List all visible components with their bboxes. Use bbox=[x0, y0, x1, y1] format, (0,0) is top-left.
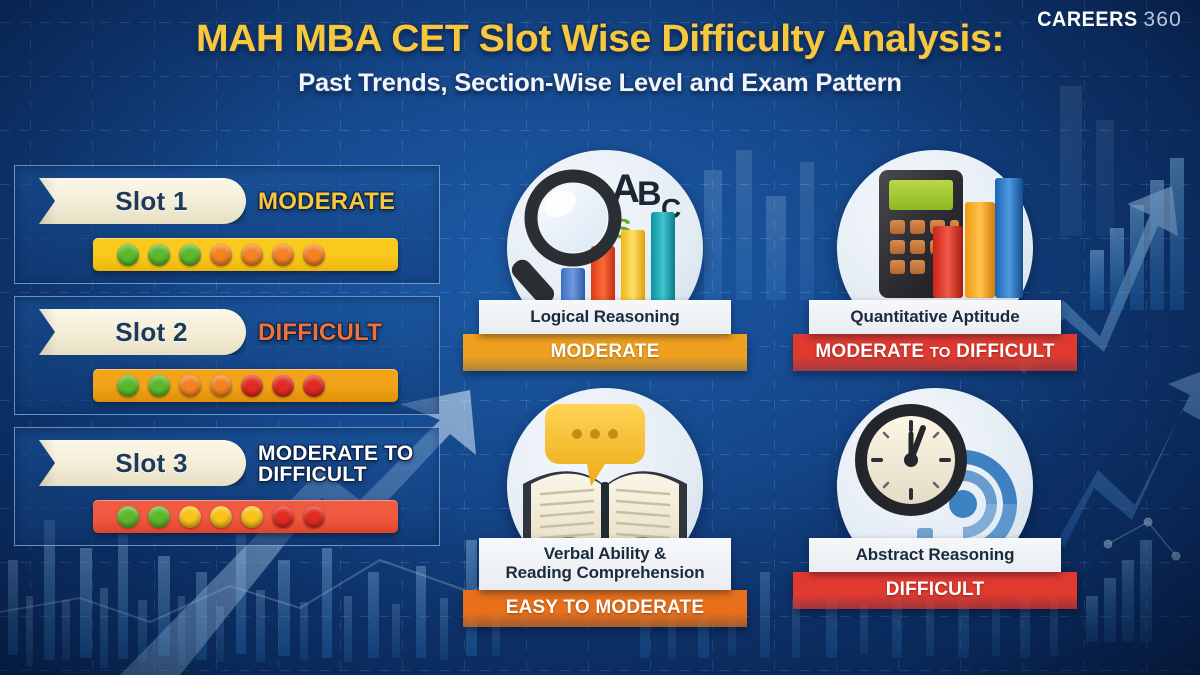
slot-name-label: Slot 3 bbox=[97, 448, 188, 479]
difficulty-meter-dot bbox=[272, 244, 294, 266]
section-name-line: Abstract Reasoning bbox=[815, 545, 1055, 564]
background-candlestick-bar bbox=[440, 598, 448, 660]
section-card[interactable]: A B C S Logical ReasoningMODERATE bbox=[455, 150, 755, 371]
difficulty-meter-dot bbox=[210, 244, 232, 266]
slot-panel: Slot 1MODERATE bbox=[14, 165, 440, 284]
section-name-line: Quantitative Aptitude bbox=[815, 307, 1055, 326]
difficulty-meter-dot bbox=[241, 375, 263, 397]
slot-ribbon: Slot 1 bbox=[39, 178, 246, 224]
section-card-grid: A B C S Logical ReasoningMODERATE bbox=[455, 150, 1190, 620]
section-difficulty-text: EASY TO MODERATE bbox=[506, 597, 705, 618]
background-candlestick-bar bbox=[158, 556, 170, 656]
background-candlestick-bar bbox=[300, 602, 308, 660]
background-candlestick-bar bbox=[80, 548, 92, 658]
background-candlestick-bar bbox=[100, 588, 108, 668]
difficulty-meter-dot bbox=[148, 375, 170, 397]
difficulty-meter-dot bbox=[303, 244, 325, 266]
section-difficulty-badge: MODERATE TO DIFFICULT bbox=[793, 334, 1077, 371]
slot-difficulty-line: MODERATE bbox=[258, 190, 395, 214]
difficulty-meter-dot bbox=[210, 375, 232, 397]
background-candlestick-bar bbox=[138, 600, 147, 662]
section-name-line: Logical Reasoning bbox=[485, 307, 725, 326]
difficulty-meter-dot bbox=[241, 244, 263, 266]
background-candlestick-bar bbox=[8, 560, 18, 655]
difficulty-meter-dot bbox=[272, 506, 294, 528]
background-candlestick-bar bbox=[368, 572, 379, 658]
difficulty-meter-dot bbox=[303, 375, 325, 397]
section-name-label: Verbal Ability &Reading Comprehension bbox=[479, 538, 731, 590]
background-candlestick-bar bbox=[344, 596, 352, 662]
slot-panel: Slot 2DIFFICULT bbox=[14, 296, 440, 415]
background-candlestick-bar bbox=[26, 596, 33, 666]
section-name-label: Logical Reasoning bbox=[479, 300, 731, 334]
grid-line-horizontal bbox=[0, 130, 1200, 131]
header: MAH MBA CET Slot Wise Difficulty Analysi… bbox=[0, 18, 1200, 98]
page-subtitle: Past Trends, Section-Wise Level and Exam… bbox=[0, 69, 1200, 98]
difficulty-meter-dot bbox=[272, 375, 294, 397]
background-candlestick-bar bbox=[216, 606, 224, 662]
slot-name-label: Slot 1 bbox=[97, 186, 188, 217]
slot-panel-list: Slot 1MODERATESlot 2DIFFICULTSlot 3MODER… bbox=[14, 165, 440, 558]
slot-difficulty-meter bbox=[93, 500, 398, 533]
section-difficulty-text: TO bbox=[930, 344, 951, 361]
section-name-line: Verbal Ability & bbox=[483, 544, 727, 563]
slot-difficulty-label: DIFFICULT bbox=[258, 309, 436, 357]
difficulty-meter-dot bbox=[148, 244, 170, 266]
difficulty-meter-dot bbox=[117, 506, 139, 528]
section-card[interactable]: Abstract ReasoningDIFFICULT bbox=[785, 388, 1085, 609]
section-name-label: Quantitative Aptitude bbox=[809, 300, 1061, 334]
difficulty-meter-dot bbox=[117, 375, 139, 397]
difficulty-meter-dot bbox=[179, 506, 201, 528]
slot-difficulty-line: DIFFICULT bbox=[258, 464, 367, 485]
section-difficulty-badge: DIFFICULT bbox=[793, 572, 1077, 609]
background-candlestick-bar bbox=[62, 600, 70, 660]
difficulty-meter-dot bbox=[241, 506, 263, 528]
difficulty-meter-dot bbox=[148, 506, 170, 528]
page-title: MAH MBA CET Slot Wise Difficulty Analysi… bbox=[0, 18, 1200, 61]
slot-ribbon: Slot 3 bbox=[39, 440, 246, 486]
infographic-stage: CAREERS360 MAH MBA CET Slot Wise Difficu… bbox=[0, 0, 1200, 675]
background-candlestick-bar bbox=[392, 604, 400, 658]
grid-line-horizontal bbox=[0, 670, 1200, 671]
slot-difficulty-meter bbox=[93, 369, 398, 402]
slot-difficulty-label: MODERATE TODIFFICULT bbox=[258, 440, 436, 488]
section-difficulty-text: DIFFICULT bbox=[951, 341, 1055, 362]
section-difficulty-text: MODERATE bbox=[551, 341, 660, 362]
slot-difficulty-line: DIFFICULT bbox=[258, 321, 382, 345]
section-name-label: Abstract Reasoning bbox=[809, 538, 1061, 572]
section-difficulty-text: DIFFICULT bbox=[886, 579, 985, 600]
difficulty-meter-dot bbox=[179, 375, 201, 397]
section-name-line: Reading Comprehension bbox=[483, 563, 727, 582]
background-candlestick-bar bbox=[196, 572, 207, 660]
slot-difficulty-label: MODERATE bbox=[258, 178, 436, 226]
section-difficulty-badge: MODERATE bbox=[463, 334, 747, 371]
difficulty-meter-dot bbox=[210, 506, 232, 528]
background-candlestick-bar bbox=[322, 548, 332, 658]
slot-difficulty-meter bbox=[93, 238, 398, 271]
svg-text:B: B bbox=[637, 175, 662, 213]
section-difficulty-text: MODERATE bbox=[815, 341, 929, 362]
difficulty-meter-dot bbox=[117, 244, 139, 266]
background-candlestick-bar bbox=[178, 596, 185, 666]
section-card[interactable]: Quantitative AptitudeMODERATE TO DIFFICU… bbox=[785, 150, 1085, 371]
difficulty-meter-dot bbox=[179, 244, 201, 266]
slot-difficulty-line: MODERATE TO bbox=[258, 443, 413, 464]
background-candlestick-bar bbox=[416, 566, 426, 658]
background-candlestick-bar bbox=[278, 560, 290, 656]
section-card[interactable]: Verbal Ability &Reading ComprehensionEAS… bbox=[455, 388, 755, 627]
slot-panel: Slot 3MODERATE TODIFFICULT bbox=[14, 427, 440, 546]
section-difficulty-badge: EASY TO MODERATE bbox=[463, 590, 747, 627]
background-candlestick-bar bbox=[256, 590, 265, 662]
slot-name-label: Slot 2 bbox=[97, 317, 188, 348]
slot-ribbon: Slot 2 bbox=[39, 309, 246, 355]
difficulty-meter-dot bbox=[303, 506, 325, 528]
